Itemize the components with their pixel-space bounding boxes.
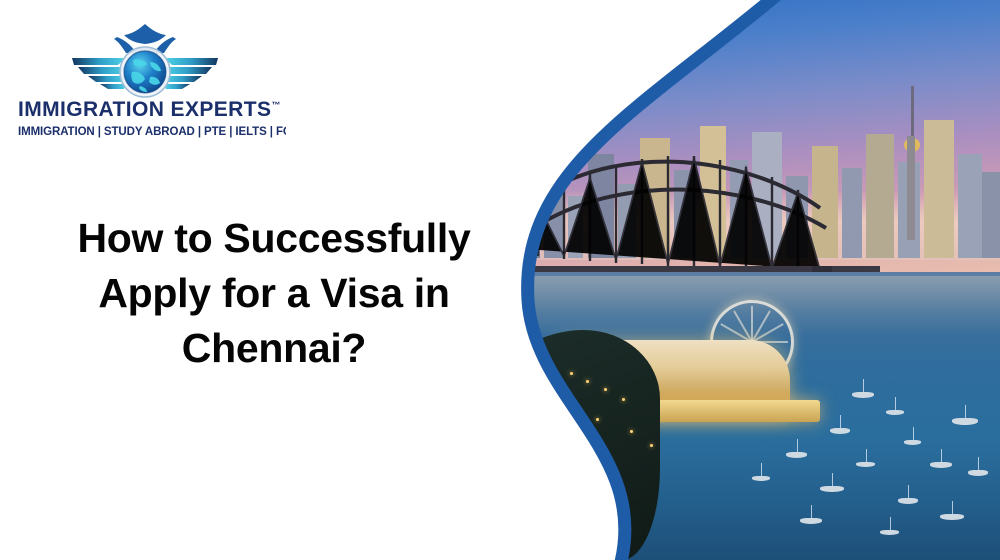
harbour-bridge	[500, 120, 880, 280]
foreground-headland	[500, 330, 660, 560]
blog-hero-banner: IMMIGRATION EXPERTS™ IMMIGRATION | STUDY…	[0, 0, 1000, 560]
headline-line-3: Chennai?	[24, 321, 524, 376]
globe-with-wings-icon	[70, 22, 220, 102]
brand-logo[interactable]: IMMIGRATION EXPERTS™ IMMIGRATION | STUDY…	[18, 22, 270, 142]
headline-line-2: Apply for a Visa in	[24, 266, 524, 321]
brand-name: IMMIGRATION EXPERTS™	[18, 98, 270, 122]
brand-tagline: IMMIGRATION | STUDY ABROAD | PTE | IELTS…	[18, 126, 286, 138]
hero-photo	[500, 0, 1000, 560]
brand-name-text: IMMIGRATION EXPERTS	[18, 98, 271, 121]
page-title: How to Successfully Apply for a Visa in …	[24, 211, 524, 375]
trademark-symbol: ™	[271, 100, 280, 110]
headline-line-1: How to Successfully	[24, 211, 524, 266]
